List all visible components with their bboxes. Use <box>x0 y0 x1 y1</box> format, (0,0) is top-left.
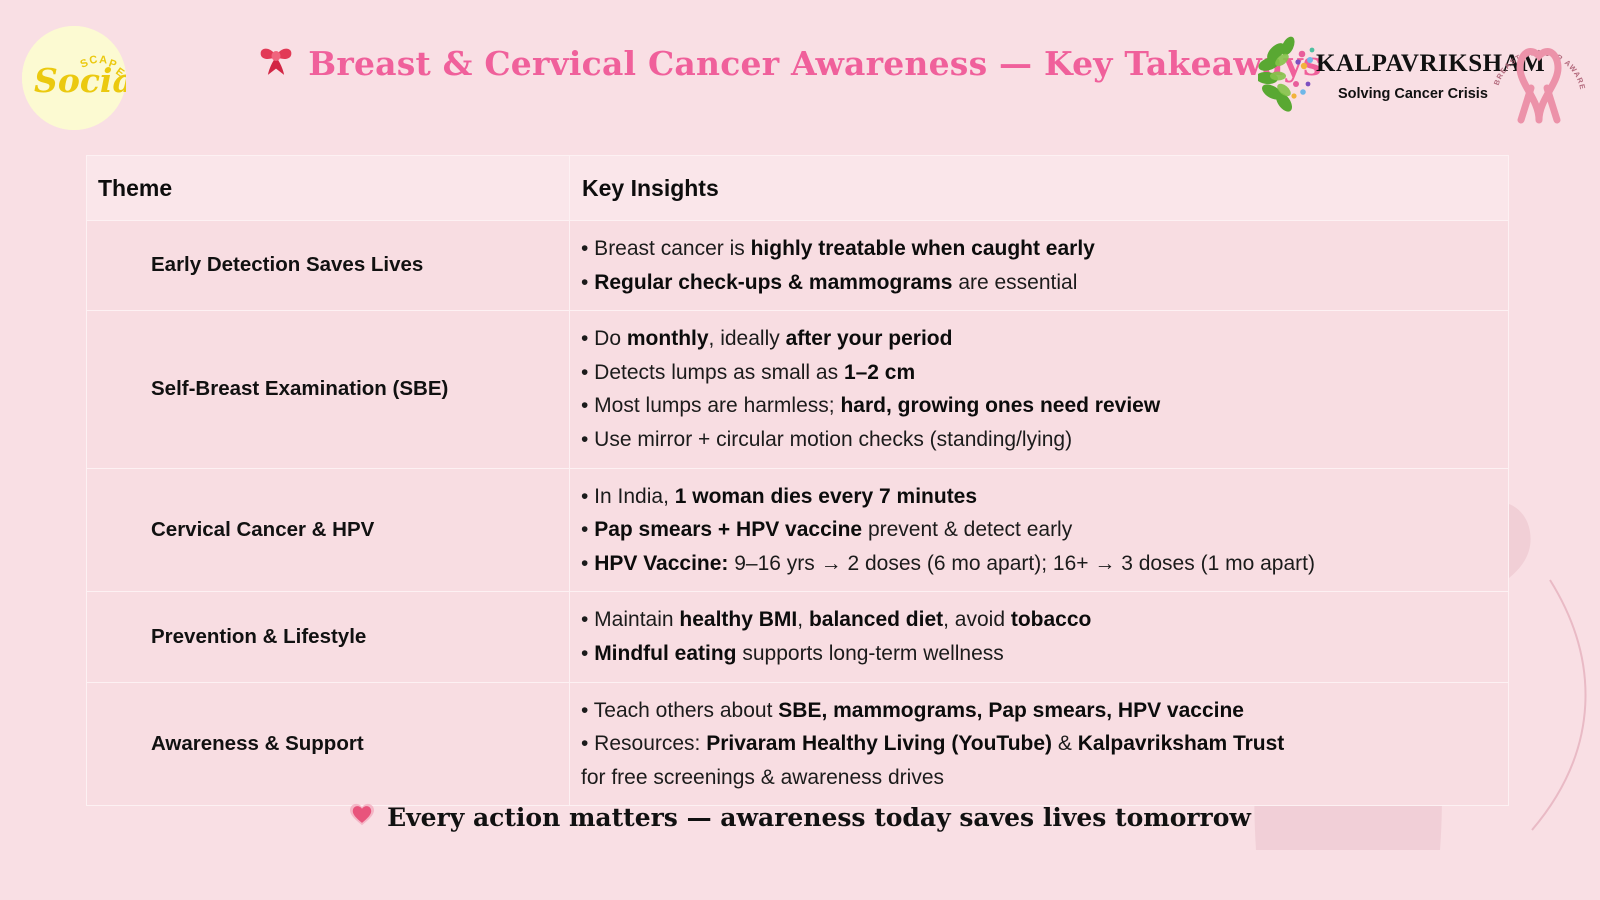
insights-cell: • Maintain healthy BMI, balanced diet, a… <box>570 592 1509 682</box>
column-header-theme: Theme <box>87 156 570 221</box>
insight-line: • Pap smears + HPV vaccine prevent & det… <box>581 513 1498 547</box>
breast-cancer-awareness-badge: BREAST CANCER AWARENESS MONTH <box>1490 22 1588 126</box>
insight-line: • Most lumps are harmless; hard, growing… <box>581 389 1498 423</box>
table-row: Cervical Cancer & HPV • In India, 1 woma… <box>87 468 1509 592</box>
theme-cell: Self-Breast Examination (SBE) <box>87 311 570 468</box>
insights-cell: • Do monthly, ideally after your period … <box>570 311 1509 468</box>
insight-line: • Do monthly, ideally after your period <box>581 322 1498 356</box>
insights-list: • Teach others about SBE, mammograms, Pa… <box>570 683 1508 806</box>
kalpavriksham-tagline: Solving Cancer Crisis <box>1338 86 1488 102</box>
footer-text: Every action matters — awareness today s… <box>387 803 1251 832</box>
theme-cell: Early Detection Saves Lives <box>87 221 570 311</box>
socialscape-logo: Social S C A P E <box>22 26 126 130</box>
insight-line: • Resources: Privaram Healthy Living (Yo… <box>581 727 1498 761</box>
table-row: Prevention & Lifestyle • Maintain health… <box>87 592 1509 682</box>
theme-label: Awareness & Support <box>87 731 569 758</box>
column-header-key-insights: Key Insights <box>570 156 1509 221</box>
table-row: Awareness & Support • Teach others about… <box>87 682 1509 806</box>
insight-line: • Detects lumps as small as 1–2 cm <box>581 356 1498 390</box>
table-row: Early Detection Saves Lives • Breast can… <box>87 221 1509 311</box>
insight-line: • Use mirror + circular motion checks (s… <box>581 423 1498 457</box>
insights-list: • Breast cancer is highly treatable when… <box>570 221 1508 310</box>
insights-list: • In India, 1 woman dies every 7 minutes… <box>570 469 1508 592</box>
insights-cell: • In India, 1 woman dies every 7 minutes… <box>570 468 1509 592</box>
kalpavriksham-logo: KALPAVRIKSHAM Solving Cancer Crisis <box>1258 28 1488 123</box>
page-title-text: Breast & Cervical Cancer Awareness — Key… <box>308 44 1321 83</box>
theme-label: Early Detection Saves Lives <box>87 252 569 279</box>
table-body: Early Detection Saves Lives • Breast can… <box>87 221 1509 806</box>
page-footer: Every action matters — awareness today s… <box>0 803 1600 832</box>
insight-line: • Teach others about SBE, mammograms, Pa… <box>581 694 1498 728</box>
theme-label: Cervical Cancer & HPV <box>87 517 569 544</box>
pink-ribbon-icon <box>1520 52 1558 120</box>
svg-text:A: A <box>99 54 108 67</box>
insight-line: • HPV Vaccine: 9–16 yrs → 2 doses (6 mo … <box>581 547 1498 581</box>
insights-list: • Do monthly, ideally after your period … <box>570 311 1508 467</box>
column-header-key-insights-label: Key Insights <box>570 175 1508 202</box>
insight-line: • In India, 1 woman dies every 7 minutes <box>581 480 1498 514</box>
insight-line: • Mindful eating supports long-term well… <box>581 637 1498 671</box>
insight-line: • Maintain healthy BMI, balanced diet, a… <box>581 603 1498 637</box>
theme-cell: Cervical Cancer & HPV <box>87 468 570 592</box>
theme-label: Prevention & Lifestyle <box>87 624 569 651</box>
theme-cell: Awareness & Support <box>87 682 570 806</box>
page-header: Social S C A P E Breast & Cervical Cance… <box>0 0 1600 142</box>
page-title: Breast & Cervical Cancer Awareness — Key… <box>300 44 1280 83</box>
insight-line: • Regular check-ups & mammograms are ess… <box>581 266 1498 300</box>
table-header-row: Theme Key Insights <box>87 156 1509 221</box>
theme-cell: Prevention & Lifestyle <box>87 592 570 682</box>
insights-list: • Maintain healthy BMI, balanced diet, a… <box>570 592 1508 681</box>
table-row: Self-Breast Examination (SBE) • Do month… <box>87 311 1509 468</box>
column-header-theme-label: Theme <box>87 175 569 202</box>
insights-cell: • Breast cancer is highly treatable when… <box>570 221 1509 311</box>
insight-line: • Breast cancer is highly treatable when… <box>581 232 1498 266</box>
insights-cell: • Teach others about SBE, mammograms, Pa… <box>570 682 1509 806</box>
growing-heart-icon <box>349 803 375 832</box>
theme-label: Self-Breast Examination (SBE) <box>87 376 569 403</box>
key-takeaways-table: Theme Key Insights Early Detection Saves… <box>86 155 1509 806</box>
ribbon-bow-icon <box>258 44 294 83</box>
insight-line: for free screenings & awareness drives <box>581 761 1498 795</box>
